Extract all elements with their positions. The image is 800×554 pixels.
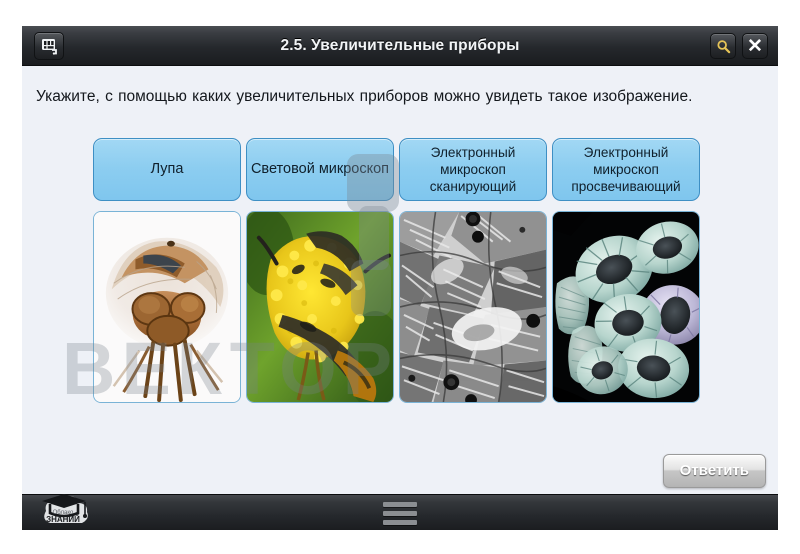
title-bar: 2.5. Увеличительные приборы ✕ — [22, 26, 778, 66]
thumbnail-insect-head-macro-photo[interactable] — [93, 211, 241, 403]
coccolithophore-sem-image — [553, 212, 699, 402]
answer-button-svetovoy-mikroskop[interactable]: Световой микроскоп — [246, 138, 394, 201]
hamburger-menu-icon[interactable] — [383, 502, 417, 525]
answer-column-1: Световой микроскоп — [246, 138, 394, 201]
answer-options-grid: Лупа — [93, 138, 701, 428]
question-text: Укажите, с помощью каких увеличительных … — [36, 84, 764, 109]
magnifier-icon[interactable] — [710, 33, 736, 59]
answer-button-lupa[interactable]: Лупа — [93, 138, 241, 201]
hamburger-bar-1 — [383, 502, 417, 507]
answer-button-elektronnyy-mikroskop-skaniruyushchiy[interactable]: Электронный микроскоп сканирующий — [399, 138, 547, 201]
answer-label: Электронный микроскоп сканирующий — [400, 144, 546, 195]
svg-text:ЗНАНИЙ: ЗНАНИЙ — [46, 515, 80, 524]
cloud-graduation-cap-logo[interactable]: Облако ЗНАНИЙ — [30, 491, 96, 530]
insect-head-macro-photo — [94, 212, 240, 402]
submit-answer-button[interactable]: Ответить — [663, 454, 766, 488]
answer-button-elektronnyy-mikroskop-prosvechivayushchiy[interactable]: Электронный микроскоп просвечивающий — [552, 138, 700, 201]
bottom-bar: Облако ЗНАНИЙ — [22, 494, 778, 530]
application-window: 2.5. Увеличительные приборы ✕ Укажите, с… — [22, 26, 778, 530]
grayscale-electron-micrograph — [400, 212, 546, 402]
answer-column-2: Электронный микроскоп сканирующий — [399, 138, 547, 201]
answer-label: Электронный микроскоп просвечивающий — [553, 144, 699, 195]
thumbnail-grayscale-electron-micrograph[interactable] — [399, 211, 547, 403]
answer-label: Лупа — [149, 161, 186, 179]
page-title: 2.5. Увеличительные приборы — [22, 26, 778, 66]
hamburger-bar-3 — [383, 520, 417, 525]
answer-column-0: Лупа — [93, 138, 241, 201]
close-icon[interactable]: ✕ — [742, 33, 768, 59]
answer-column-3: Электронный микроскоп просвечивающий — [552, 138, 700, 201]
thumbnail-coccolithophore-sem-image[interactable] — [552, 211, 700, 403]
thumbnail-bee-with-pollen-photo[interactable] — [246, 211, 394, 403]
close-x-glyph: ✕ — [747, 37, 763, 56]
bee-with-pollen-photo — [247, 212, 393, 402]
magnifier-icon-glyph — [716, 39, 731, 54]
hamburger-bar-2 — [383, 511, 417, 516]
answer-label: Световой микроскоп — [249, 161, 391, 179]
